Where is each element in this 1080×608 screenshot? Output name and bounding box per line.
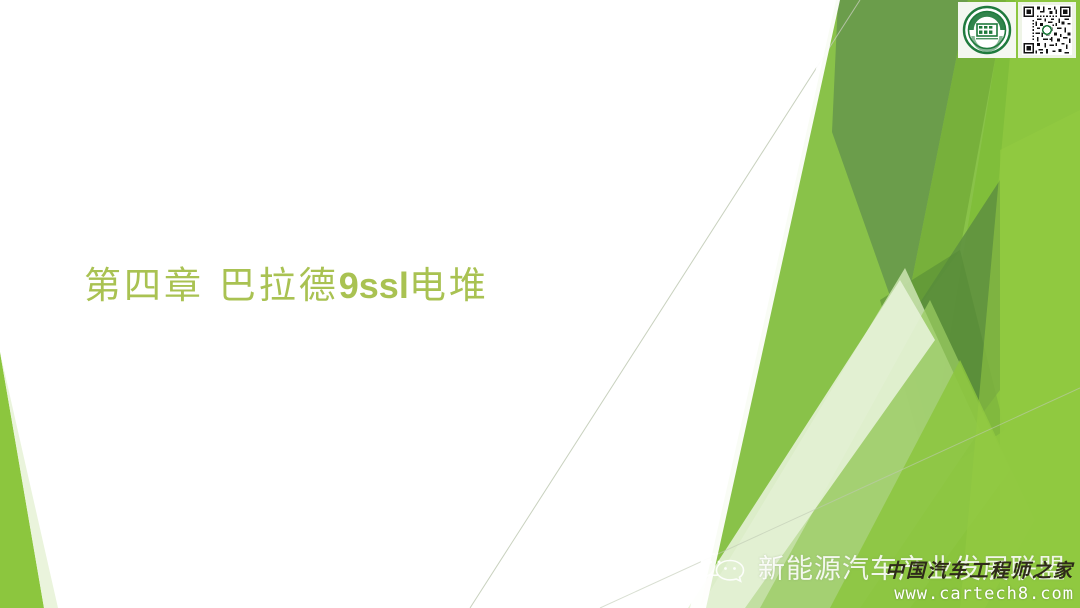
title-chinese-prefix: 第四章 巴拉德 (84, 264, 339, 307)
title-block: 第四章 巴拉德9ssl电堆 (84, 265, 644, 308)
qr-code-container[interactable] (1018, 2, 1076, 58)
qr-code-icon[interactable] (1021, 5, 1073, 55)
corner-badge (958, 2, 1076, 58)
title-latin-model: 9ssl (339, 265, 409, 306)
presentation-slide: 第四章 巴拉德9ssl电堆 (0, 0, 1080, 608)
org-seal-icon (962, 5, 1012, 55)
org-seal-container (958, 2, 1016, 58)
title-chinese-suffix: 电堆 (409, 264, 489, 307)
page-title: 第四章 巴拉德9ssl电堆 (84, 265, 644, 308)
